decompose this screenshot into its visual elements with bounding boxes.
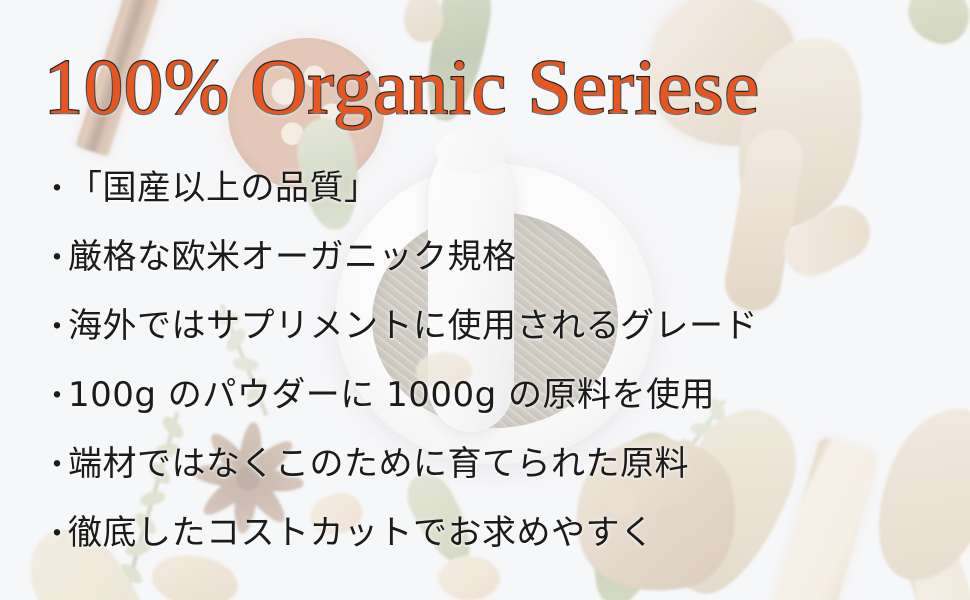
list-item-label: 海外ではサプリメントに使用されるグレード: [68, 298, 758, 347]
list-item: ・ 端材ではなくこのために育てられた原料: [42, 436, 960, 505]
bullet-mark-icon: ・: [42, 440, 68, 484]
banner-content: 100% Organic Seriese ・ 「国産以上の品質」 ・ 厳格な欧米…: [0, 0, 970, 600]
organic-series-banner: 100% Organic Seriese ・ 「国産以上の品質」 ・ 厳格な欧米…: [0, 0, 970, 600]
bullet-mark-icon: ・: [42, 509, 68, 553]
list-item-label: 厳格な欧米オーガニック規格: [68, 229, 517, 278]
list-item: ・ 100g のパウダーに 1000g の原料を使用: [42, 367, 960, 436]
bullet-mark-icon: ・: [42, 302, 68, 346]
list-item-label: 端材ではなくこのために育てられた原料: [68, 436, 689, 485]
list-item: ・ 「国産以上の品質」: [42, 160, 960, 229]
list-item: ・ 海外ではサプリメントに使用されるグレード: [42, 298, 960, 367]
feature-bullet-list: ・ 「国産以上の品質」 ・ 厳格な欧米オーガニック規格 ・ 海外ではサプリメント…: [42, 160, 960, 574]
bullet-mark-icon: ・: [42, 233, 68, 277]
bullet-mark-icon: ・: [42, 371, 68, 415]
list-item-label: 「国産以上の品質」: [68, 160, 379, 209]
bullet-mark-icon: ・: [42, 164, 68, 208]
list-item: ・ 徹底したコストカットでお求めやすく: [42, 505, 960, 574]
list-item-label: 100g のパウダーに 1000g の原料を使用: [68, 367, 715, 416]
banner-headline: 100% Organic Seriese: [44, 48, 760, 126]
list-item: ・ 厳格な欧米オーガニック規格: [42, 229, 960, 298]
list-item-label: 徹底したコストカットでお求めやすく: [68, 505, 655, 554]
